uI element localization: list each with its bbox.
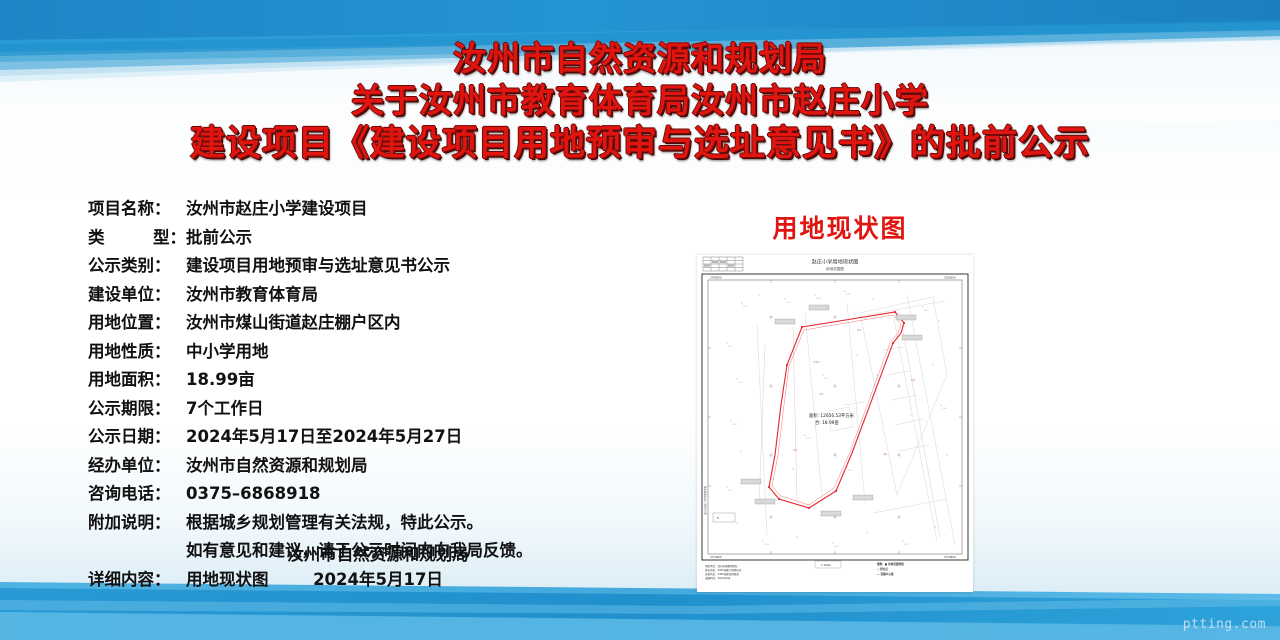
field-label: 经办单位： bbox=[88, 453, 186, 478]
land-use-map[interactable]: 赵庄小学用地现状图 用地范围图 3780000 3780000 3779600 … bbox=[697, 255, 973, 592]
field-value: 汝州市赵庄小学建设项目 bbox=[186, 196, 368, 221]
map-scale: 1:1000 bbox=[821, 563, 831, 567]
field-row: 类型：批前公示 bbox=[88, 225, 668, 250]
title-line-1: 汝州市自然资源和规划局 bbox=[0, 38, 1280, 80]
signature-issuer: 汝州市自然资源和规划局 bbox=[88, 542, 668, 567]
svg-text:12.7: 12.7 bbox=[848, 470, 853, 472]
field-row: 项目名称：汝州市赵庄小学建设项目 bbox=[88, 196, 668, 221]
svg-text:13.1: 13.1 bbox=[786, 302, 791, 304]
svg-text:○ 界址点: ○ 界址点 bbox=[877, 567, 888, 571]
svg-text:测绘单位：汝州市勘察测绘队: 测绘单位：汝州市勘察测绘队 bbox=[705, 564, 738, 568]
title-line-2: 关于汝州市教育体育局汝州市赵庄小学 bbox=[0, 80, 1280, 122]
field-label: 项目名称： bbox=[88, 196, 186, 221]
svg-text:3780000: 3780000 bbox=[710, 276, 722, 280]
svg-text:12.9: 12.9 bbox=[824, 378, 829, 380]
map-sheet-subtitle: 用地范围图 bbox=[826, 266, 844, 271]
field-value: 0375–6868918 bbox=[186, 481, 321, 506]
field-row: 用地面积：18.99亩 bbox=[88, 367, 668, 392]
page-title: 汝州市自然资源和规划局 关于汝州市教育体育局汝州市赵庄小学 建设项目《建设项目用… bbox=[0, 38, 1280, 167]
svg-text:12.2: 12.2 bbox=[738, 382, 743, 384]
svg-text:13.0: 13.0 bbox=[904, 544, 909, 546]
svg-text:图例：■ 用地范围界线: 图例：■ 用地范围界线 bbox=[877, 562, 904, 566]
svg-text:13.3: 13.3 bbox=[878, 378, 883, 380]
svg-text:11.9: 11.9 bbox=[728, 346, 733, 348]
field-value: 汝州市煤山街道赵庄棚户区内 bbox=[186, 310, 401, 335]
field-label: 建设单位： bbox=[88, 282, 186, 307]
svg-text:11.7: 11.7 bbox=[728, 490, 733, 492]
field-value: 汝州市教育体育局 bbox=[186, 282, 318, 307]
field-label: 公示期限： bbox=[88, 396, 186, 421]
field-value: 中小学用地 bbox=[186, 339, 269, 364]
field-value: 汝州市自然资源和规划局 bbox=[186, 453, 368, 478]
field-label: 附加说明： bbox=[88, 510, 186, 535]
svg-text:12.8: 12.8 bbox=[816, 298, 821, 300]
svg-text:12.3: 12.3 bbox=[834, 546, 839, 548]
svg-text:汝州市赵庄小学用地现状图: 汝州市赵庄小学用地现状图 bbox=[703, 486, 707, 515]
field-row: 用地性质：中小学用地 bbox=[88, 339, 668, 364]
svg-text:3780000: 3780000 bbox=[944, 276, 956, 280]
svg-text:13.5: 13.5 bbox=[846, 294, 851, 296]
field-label: 咨询电话： bbox=[88, 481, 186, 506]
svg-text:N: N bbox=[717, 516, 719, 520]
svg-text:12.6: 12.6 bbox=[732, 424, 737, 426]
field-label: 用地面积： bbox=[88, 367, 186, 392]
field-label: 公示类别： bbox=[88, 253, 186, 278]
svg-text:13.8: 13.8 bbox=[942, 408, 947, 410]
field-value: 批前公示 bbox=[186, 225, 252, 250]
field-row: 用地位置：汝州市煤山街道赵庄棚户区内 bbox=[88, 310, 668, 335]
signature-block: 汝州市自然资源和规划局 2024年5月17日 bbox=[88, 542, 668, 592]
svg-text:3779600: 3779600 bbox=[944, 555, 956, 559]
watermark: ptting.com bbox=[1183, 617, 1266, 632]
map-drawing: 赵庄小学用地现状图 用地范围图 3780000 3780000 3779600 … bbox=[697, 255, 973, 592]
title-line-3: 建设项目《建设项目用地预审与选址意见书》的批前公示 bbox=[0, 122, 1280, 167]
map-sheet-title: 赵庄小学用地现状图 bbox=[812, 258, 859, 266]
field-label: 类型： bbox=[88, 225, 186, 250]
map-area-label: 面积: 12656.53平方米 bbox=[809, 412, 855, 419]
svg-text:12.0: 12.0 bbox=[764, 544, 769, 546]
field-row: 公示期限：7个工作日 bbox=[88, 396, 668, 421]
field-label: 用地性质： bbox=[88, 339, 186, 364]
map-area-mu: 合: 18.99亩 bbox=[815, 419, 839, 426]
svg-text:12.4: 12.4 bbox=[743, 306, 748, 308]
field-row: 公示类别：建设项目用地预审与选址意见书公示 bbox=[88, 253, 668, 278]
field-row: 附加说明：根据城乡规划管理有关法规，特此公示。 bbox=[88, 510, 668, 535]
field-row: 咨询电话：0375–6868918 bbox=[88, 481, 668, 506]
field-label: 用地位置： bbox=[88, 310, 186, 335]
svg-text:14.2: 14.2 bbox=[924, 310, 929, 312]
field-row: 公示日期：2024年5月17日至2024年5月27日 bbox=[88, 424, 668, 449]
svg-text:12.5: 12.5 bbox=[806, 438, 811, 440]
svg-text:坐标系统：2000国家大地坐标系: 坐标系统：2000国家大地坐标系 bbox=[705, 568, 742, 572]
field-value: 7个工作日 bbox=[186, 396, 263, 421]
signature-date: 2024年5月17日 bbox=[88, 567, 668, 592]
field-value: 建设项目用地预审与选址意见书公示 bbox=[186, 253, 450, 278]
field-value: 2024年5月17日至2024年5月27日 bbox=[186, 424, 462, 449]
announcement-fields: 项目名称：汝州市赵庄小学建设项目类型：批前公示公示类别：建设项目用地预审与选址意… bbox=[88, 196, 668, 595]
svg-text:— 道路中心线: — 道路中心线 bbox=[877, 572, 894, 576]
svg-text:3779600: 3779600 bbox=[710, 555, 722, 559]
field-row: 建设单位：汝州市教育体育局 bbox=[88, 282, 668, 307]
svg-text:高程系统：1985国家高程基准: 高程系统：1985国家高程基准 bbox=[705, 572, 739, 576]
field-row: 经办单位：汝州市自然资源和规划局 bbox=[88, 453, 668, 478]
field-value: 18.99亩 bbox=[186, 367, 255, 392]
field-label: 公示日期： bbox=[88, 424, 186, 449]
svg-text:成图时间：2024年5月: 成图时间：2024年5月 bbox=[705, 576, 731, 580]
field-value: 根据城乡规划管理有关法规，特此公示。 bbox=[186, 510, 483, 535]
map-heading: 用地现状图 bbox=[680, 209, 1000, 245]
